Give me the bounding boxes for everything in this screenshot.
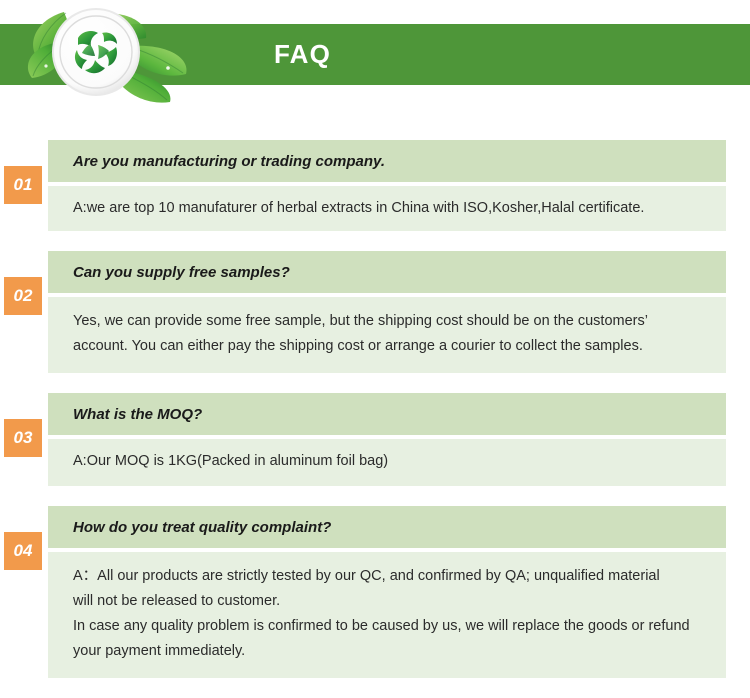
faq-body: Can you supply free samples? Yes, we can…	[48, 251, 726, 373]
faq-answer: A:we are top 10 manufaturer of herbal ex…	[48, 186, 726, 231]
faq-number-badge: 01	[4, 166, 42, 204]
faq-question[interactable]: Can you supply free samples?	[48, 251, 726, 293]
faq-item: 02 Can you supply free samples? Yes, we …	[0, 251, 750, 373]
faq-body: Are you manufacturing or trading company…	[48, 140, 726, 231]
faq-answer: A：All our products are strictly tested b…	[48, 552, 726, 678]
page-header: FAQ	[0, 0, 750, 115]
faq-number-badge: 04	[4, 532, 42, 570]
faq-item: 04 How do you treat quality complaint? A…	[0, 506, 750, 678]
faq-list: 01 Are you manufacturing or trading comp…	[0, 140, 750, 698]
leaf-circle-logo	[20, 0, 220, 112]
faq-body: What is the MOQ? A:Our MOQ is 1KG(Packed…	[48, 393, 726, 486]
faq-number-badge: 03	[4, 419, 42, 457]
faq-number-badge: 02	[4, 277, 42, 315]
faq-question[interactable]: Are you manufacturing or trading company…	[48, 140, 726, 182]
logo-disc	[52, 8, 140, 96]
faq-question[interactable]: How do you treat quality complaint?	[48, 506, 726, 548]
faq-answer: Yes, we can provide some free sample, bu…	[48, 297, 726, 373]
faq-body: How do you treat quality complaint? A：Al…	[48, 506, 726, 678]
faq-item: 03 What is the MOQ? A:Our MOQ is 1KG(Pac…	[0, 393, 750, 486]
page-title: FAQ	[274, 38, 331, 71]
faq-item: 01 Are you manufacturing or trading comp…	[0, 140, 750, 231]
faq-answer: A:Our MOQ is 1KG(Packed in aluminum foil…	[48, 439, 726, 486]
faq-question[interactable]: What is the MOQ?	[48, 393, 726, 435]
